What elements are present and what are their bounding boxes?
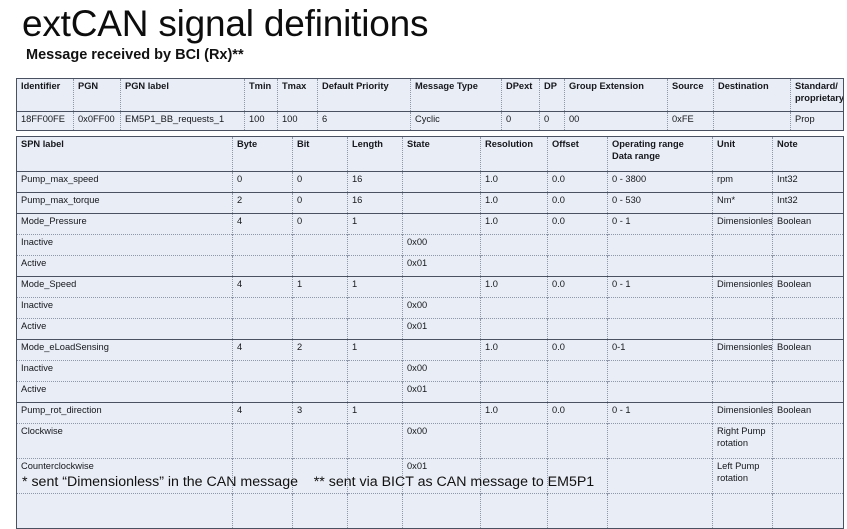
cell-length bbox=[348, 424, 403, 459]
cell-tmax: 100 bbox=[278, 112, 318, 131]
cell-bit: 2 bbox=[293, 340, 348, 361]
col-header-offset: Offset bbox=[548, 137, 608, 172]
cell-state: 0x00 bbox=[403, 424, 481, 459]
cell-length: 1 bbox=[348, 277, 403, 298]
table-row: Active0x01 bbox=[17, 256, 844, 277]
operating-range-line1: Operating range bbox=[612, 139, 684, 149]
col-header-group-extension: Group Extension bbox=[565, 79, 668, 112]
unit-line2: rotation bbox=[717, 473, 748, 483]
cell-state: 0x01 bbox=[403, 382, 481, 403]
cell-spn-label: Pump_rot_direction bbox=[17, 403, 233, 424]
cell-spn-label: Inactive bbox=[17, 361, 233, 382]
cell-length: 16 bbox=[348, 172, 403, 193]
col-header-state: State bbox=[403, 137, 481, 172]
spn-definitions-table: SPN label Byte Bit Length State Resoluti… bbox=[16, 136, 844, 529]
unit-line1: Left Pump bbox=[717, 461, 759, 471]
cell-note bbox=[773, 382, 844, 403]
table-row: 18FF00FE 0x0FF00 EM5P1_BB_requests_1 100… bbox=[17, 112, 844, 131]
cell-offset bbox=[548, 235, 608, 256]
cell-spn-label: Pump_max_speed bbox=[17, 172, 233, 193]
col-header-byte: Byte bbox=[233, 137, 293, 172]
message-header-row: Identifier PGN PGN label Tmin Tmax Defau… bbox=[17, 79, 844, 112]
cell-bit bbox=[293, 424, 348, 459]
cell-resolution: 1.0 bbox=[481, 277, 548, 298]
cell-spn-label: Clockwise bbox=[17, 424, 233, 459]
cell-state bbox=[403, 494, 481, 529]
cell-length: 1 bbox=[348, 403, 403, 424]
cell-resolution: 1.0 bbox=[481, 403, 548, 424]
cell-state: 0x00 bbox=[403, 361, 481, 382]
cell-standard-proprietary: Prop bbox=[791, 112, 844, 131]
cell-byte bbox=[233, 494, 293, 529]
cell-unit: Dimensionless bbox=[713, 340, 773, 361]
cell-note: Int32 bbox=[773, 193, 844, 214]
cell-unit: Left Pumprotation bbox=[713, 459, 773, 494]
cell-byte: 0 bbox=[233, 172, 293, 193]
cell-bit bbox=[293, 494, 348, 529]
col-header-operating-range: Operating rangeData range bbox=[608, 137, 713, 172]
cell-resolution bbox=[481, 256, 548, 277]
cell-note: Boolean bbox=[773, 340, 844, 361]
operating-range-line2: Data range bbox=[612, 151, 660, 161]
col-header-spn-label: SPN label bbox=[17, 137, 233, 172]
table-row: Pump_rot_direction4311.00.00 - 1Dimensio… bbox=[17, 403, 844, 424]
col-header-source: Source bbox=[668, 79, 714, 112]
cell-byte bbox=[233, 235, 293, 256]
cell-dp: 0 bbox=[540, 112, 565, 131]
cell-state: 0x01 bbox=[403, 256, 481, 277]
cell-offset bbox=[548, 298, 608, 319]
cell-length bbox=[348, 361, 403, 382]
cell-offset: 0.0 bbox=[548, 340, 608, 361]
cell-resolution bbox=[481, 424, 548, 459]
cell-unit bbox=[713, 235, 773, 256]
cell-offset bbox=[548, 494, 608, 529]
col-header-bit: Bit bbox=[293, 137, 348, 172]
message-header-table: Identifier PGN PGN label Tmin Tmax Defau… bbox=[16, 78, 844, 131]
cell-length bbox=[348, 494, 403, 529]
cell-offset bbox=[548, 319, 608, 340]
cell-unit: Nm* bbox=[713, 193, 773, 214]
cell-bit: 0 bbox=[293, 193, 348, 214]
col-header-tmax: Tmax bbox=[278, 79, 318, 112]
cell-bit bbox=[293, 298, 348, 319]
cell-operating-range: 0 - 530 bbox=[608, 193, 713, 214]
cell-bit bbox=[293, 361, 348, 382]
col-header-default-priority: Default Priority bbox=[318, 79, 411, 112]
cell-message-type: Cyclic bbox=[411, 112, 502, 131]
cell-byte bbox=[233, 256, 293, 277]
cell-unit bbox=[713, 298, 773, 319]
cell-resolution bbox=[481, 319, 548, 340]
cell-operating-range bbox=[608, 494, 713, 529]
spn-header-row: SPN label Byte Bit Length State Resoluti… bbox=[17, 137, 844, 172]
table-row: Clockwise0x00Right Pumprotation bbox=[17, 424, 844, 459]
cell-spn-label: Inactive bbox=[17, 298, 233, 319]
col-header-dp: DP bbox=[540, 79, 565, 112]
cell-operating-range bbox=[608, 382, 713, 403]
cell-unit: Right Pumprotation bbox=[713, 424, 773, 459]
cell-unit: Dimensionless bbox=[713, 214, 773, 235]
cell-note: Int32 bbox=[773, 172, 844, 193]
cell-length bbox=[348, 235, 403, 256]
cell-note bbox=[773, 459, 844, 494]
cell-offset: 0.0 bbox=[548, 193, 608, 214]
cell-resolution bbox=[481, 382, 548, 403]
cell-byte bbox=[233, 382, 293, 403]
cell-operating-range: 0 - 3800 bbox=[608, 172, 713, 193]
cell-identifier: 18FF00FE bbox=[17, 112, 74, 131]
cell-byte: 4 bbox=[233, 340, 293, 361]
table-row: Pump_max_torque20161.00.00 - 530Nm*Int32 bbox=[17, 193, 844, 214]
cell-note bbox=[773, 235, 844, 256]
cell-offset: 0.0 bbox=[548, 403, 608, 424]
cell-resolution: 1.0 bbox=[481, 193, 548, 214]
cell-unit bbox=[713, 319, 773, 340]
cell-dpext: 0 bbox=[502, 112, 540, 131]
col-header-message-type: Message Type bbox=[411, 79, 502, 112]
table-row: Mode_Pressure4011.00.00 - 1Dimensionless… bbox=[17, 214, 844, 235]
cell-pgn: 0x0FF00 bbox=[74, 112, 121, 131]
cell-spn-label: Pump_max_torque bbox=[17, 193, 233, 214]
col-header-note: Note bbox=[773, 137, 844, 172]
cell-length bbox=[348, 298, 403, 319]
cell-offset bbox=[548, 382, 608, 403]
slide-canvas: extCAN signal definitions Message receiv… bbox=[0, 0, 847, 498]
table-row: Inactive0x00 bbox=[17, 235, 844, 256]
cell-spn-label: Inactive bbox=[17, 235, 233, 256]
table-row: Mode_eLoadSensing4211.00.00-1Dimensionle… bbox=[17, 340, 844, 361]
cell-length: 16 bbox=[348, 193, 403, 214]
cell-note: Boolean bbox=[773, 277, 844, 298]
cell-bit bbox=[293, 382, 348, 403]
cell-bit: 0 bbox=[293, 172, 348, 193]
col-header-pgn: PGN bbox=[74, 79, 121, 112]
cell-offset bbox=[548, 361, 608, 382]
unit-line1: Right Pump bbox=[717, 426, 766, 436]
cell-unit bbox=[713, 382, 773, 403]
col-header-dpext: DPext bbox=[502, 79, 540, 112]
cell-offset: 0.0 bbox=[548, 277, 608, 298]
cell-offset bbox=[548, 424, 608, 459]
cell-operating-range bbox=[608, 256, 713, 277]
cell-byte bbox=[233, 319, 293, 340]
cell-state bbox=[403, 172, 481, 193]
table-row: Inactive0x00 bbox=[17, 298, 844, 319]
cell-length: 1 bbox=[348, 214, 403, 235]
cell-operating-range: 0 - 1 bbox=[608, 214, 713, 235]
cell-unit: Dimensionless bbox=[713, 277, 773, 298]
cell-offset: 0.0 bbox=[548, 214, 608, 235]
cell-bit bbox=[293, 256, 348, 277]
col-header-unit: Unit bbox=[713, 137, 773, 172]
cell-state bbox=[403, 193, 481, 214]
cell-unit bbox=[713, 361, 773, 382]
cell-resolution bbox=[481, 494, 548, 529]
cell-resolution bbox=[481, 361, 548, 382]
col-header-resolution: Resolution bbox=[481, 137, 548, 172]
cell-spn-label: Active bbox=[17, 319, 233, 340]
cell-resolution: 1.0 bbox=[481, 340, 548, 361]
cell-state bbox=[403, 214, 481, 235]
cell-state: 0x01 bbox=[403, 319, 481, 340]
table-row: Pump_max_speed00161.00.00 - 3800rpmInt32 bbox=[17, 172, 844, 193]
cell-operating-range: 0 - 1 bbox=[608, 277, 713, 298]
cell-unit bbox=[713, 494, 773, 529]
cell-operating-range: 0 - 1 bbox=[608, 403, 713, 424]
cell-note bbox=[773, 319, 844, 340]
cell-operating-range bbox=[608, 298, 713, 319]
page-subtitle: Message received by BCI (Rx)** bbox=[26, 47, 244, 63]
col-header-destination: Destination bbox=[714, 79, 791, 112]
cell-length bbox=[348, 382, 403, 403]
col-header-identifier: Identifier bbox=[17, 79, 74, 112]
cell-unit: Dimensionless bbox=[713, 403, 773, 424]
cell-byte bbox=[233, 298, 293, 319]
cell-state bbox=[403, 403, 481, 424]
cell-state: 0x00 bbox=[403, 235, 481, 256]
cell-length bbox=[348, 319, 403, 340]
cell-note: Boolean bbox=[773, 214, 844, 235]
cell-state bbox=[403, 277, 481, 298]
cell-state bbox=[403, 340, 481, 361]
table-row: Mode_Speed4111.00.00 - 1DimensionlessBoo… bbox=[17, 277, 844, 298]
cell-unit: rpm bbox=[713, 172, 773, 193]
footnote: * sent “Dimensionless” in the CAN messag… bbox=[22, 474, 594, 490]
cell-spn-label: Active bbox=[17, 256, 233, 277]
unit-line2: rotation bbox=[717, 438, 748, 448]
cell-tmin: 100 bbox=[245, 112, 278, 131]
cell-byte: 4 bbox=[233, 403, 293, 424]
table-row: Inactive0x00 bbox=[17, 361, 844, 382]
cell-spn-label: Active bbox=[17, 382, 233, 403]
cell-source: 0xFE bbox=[668, 112, 714, 131]
cell-operating-range: 0-1 bbox=[608, 340, 713, 361]
cell-bit bbox=[293, 319, 348, 340]
cell-group-extension: 00 bbox=[565, 112, 668, 131]
cell-default-priority: 6 bbox=[318, 112, 411, 131]
cell-note bbox=[773, 424, 844, 459]
cell-offset: 0.0 bbox=[548, 172, 608, 193]
cell-length bbox=[348, 256, 403, 277]
cell-bit bbox=[293, 235, 348, 256]
cell-bit: 0 bbox=[293, 214, 348, 235]
cell-note: Boolean bbox=[773, 403, 844, 424]
cell-operating-range bbox=[608, 361, 713, 382]
col-header-tmin: Tmin bbox=[245, 79, 278, 112]
cell-operating-range bbox=[608, 459, 713, 494]
cell-resolution bbox=[481, 235, 548, 256]
cell-byte bbox=[233, 424, 293, 459]
col-header-length: Length bbox=[348, 137, 403, 172]
cell-offset bbox=[548, 256, 608, 277]
cell-note bbox=[773, 298, 844, 319]
cell-spn-label: Mode_Pressure bbox=[17, 214, 233, 235]
cell-spn-label: Mode_Speed bbox=[17, 277, 233, 298]
cell-operating-range bbox=[608, 424, 713, 459]
cell-operating-range bbox=[608, 319, 713, 340]
cell-resolution: 1.0 bbox=[481, 214, 548, 235]
page-title: extCAN signal definitions bbox=[22, 2, 428, 46]
cell-length: 1 bbox=[348, 340, 403, 361]
cell-pgn-label: EM5P1_BB_requests_1 bbox=[121, 112, 245, 131]
table-row: Active0x01 bbox=[17, 319, 844, 340]
cell-byte: 4 bbox=[233, 214, 293, 235]
cell-note bbox=[773, 361, 844, 382]
col-header-standard-proprietary: Standard/ proprietary bbox=[791, 79, 844, 112]
table-row bbox=[17, 494, 844, 529]
cell-bit: 1 bbox=[293, 277, 348, 298]
cell-destination bbox=[714, 112, 791, 131]
cell-spn-label bbox=[17, 494, 233, 529]
col-header-pgn-label: PGN label bbox=[121, 79, 245, 112]
cell-unit bbox=[713, 256, 773, 277]
cell-byte: 4 bbox=[233, 277, 293, 298]
cell-spn-label: Mode_eLoadSensing bbox=[17, 340, 233, 361]
cell-resolution bbox=[481, 298, 548, 319]
cell-operating-range bbox=[608, 235, 713, 256]
cell-state: 0x00 bbox=[403, 298, 481, 319]
cell-note bbox=[773, 256, 844, 277]
cell-resolution: 1.0 bbox=[481, 172, 548, 193]
cell-byte: 2 bbox=[233, 193, 293, 214]
cell-note bbox=[773, 494, 844, 529]
cell-byte bbox=[233, 361, 293, 382]
cell-bit: 3 bbox=[293, 403, 348, 424]
table-row: Active0x01 bbox=[17, 382, 844, 403]
